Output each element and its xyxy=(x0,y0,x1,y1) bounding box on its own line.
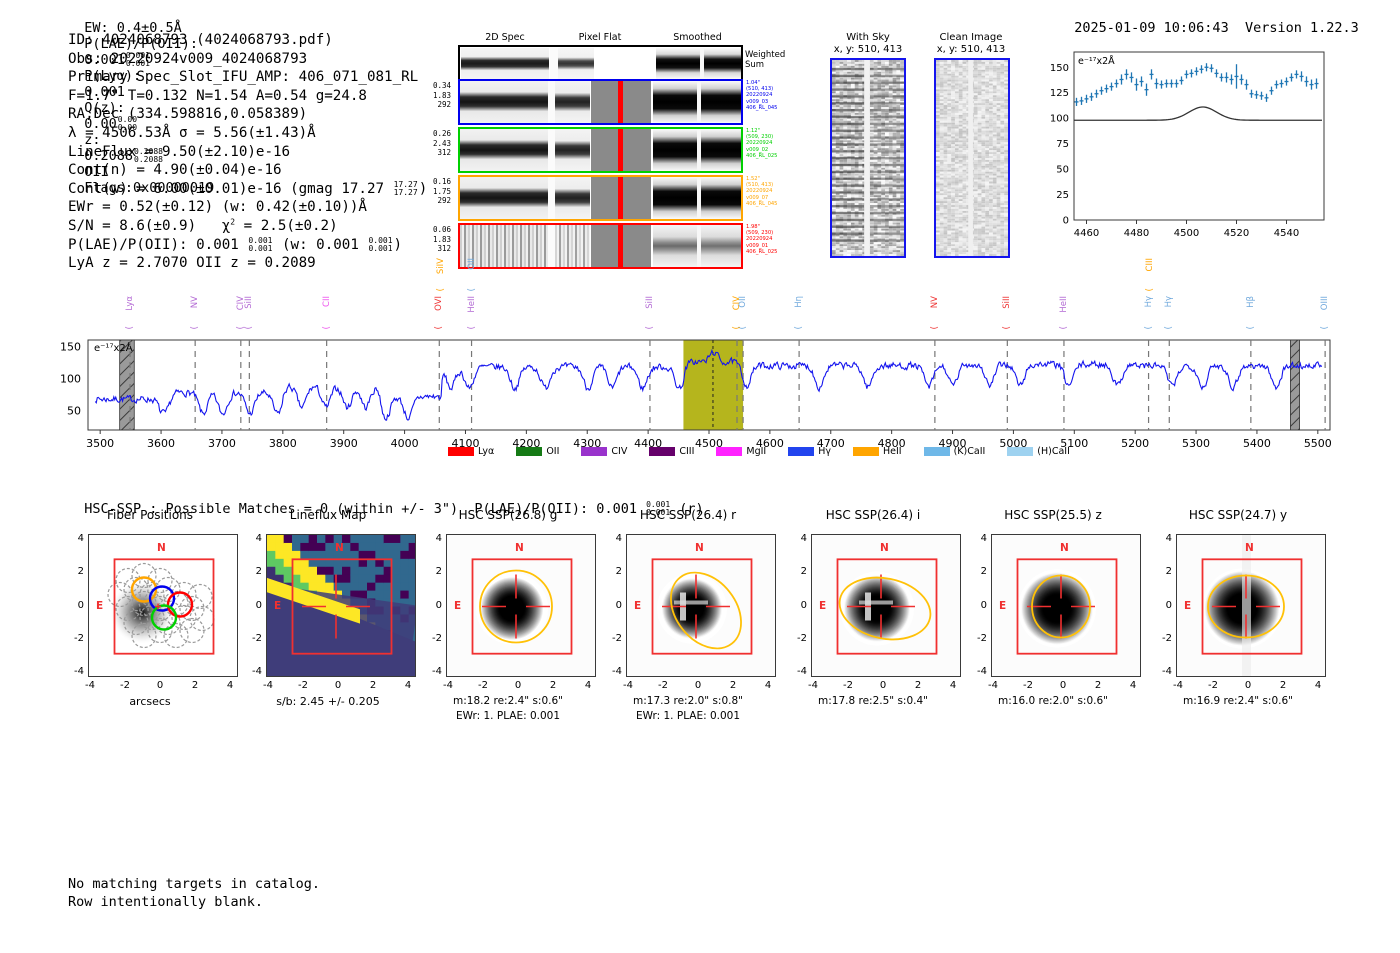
legend-item: Hγ xyxy=(788,446,831,457)
svg-text:150: 150 xyxy=(60,340,81,353)
legend-swatch xyxy=(649,447,675,456)
legend-item: CIV xyxy=(581,446,627,457)
cutout-image xyxy=(88,534,238,677)
emission-line-label: Lyα xyxy=(125,296,135,311)
emission-line-label: CII xyxy=(322,296,332,307)
fiber-2dspec-image-b xyxy=(555,177,590,219)
legend-item: (H)CaII xyxy=(1007,446,1070,457)
cutout-ytick: -2 xyxy=(785,633,807,644)
north-label: N xyxy=(1060,542,1069,554)
cutout-ytick: 2 xyxy=(420,566,442,577)
east-label: E xyxy=(454,600,461,612)
pixel-flat-image xyxy=(591,177,651,219)
image-gap xyxy=(548,177,555,219)
emission-line-bracket: ( xyxy=(434,326,444,330)
svg-text:4520: 4520 xyxy=(1224,228,1249,239)
cutout-ytick: 4 xyxy=(62,533,84,544)
fiber-metric-value: 0.16 xyxy=(417,177,451,187)
svg-text:4460: 4460 xyxy=(1074,228,1099,239)
emission-line-bracket-upper: ( xyxy=(436,288,446,292)
legend-swatch xyxy=(581,447,607,456)
cutout-ytick: 4 xyxy=(1150,533,1172,544)
cutout-ytick: 4 xyxy=(785,533,807,544)
cutout-title: HSC SSP(25.5) z xyxy=(965,508,1141,522)
legend-label: CIII xyxy=(679,446,694,457)
with-sky-image xyxy=(830,58,906,258)
cutout-title: Fiber Positions xyxy=(62,508,238,522)
legend-label: Hγ xyxy=(818,446,831,457)
cutout-panel-hsc-ssp-i: HSC SSP(26.4) iNE420-2-4-4-2024m:17.8 re… xyxy=(785,508,961,743)
cutout-xtick: -4 xyxy=(257,680,279,691)
cutout-caption: m:16.0 re:2.0" s:0.6" xyxy=(965,695,1141,707)
cutout-xtick: 4 xyxy=(577,680,599,691)
cutout-ytick: -4 xyxy=(420,666,442,677)
legend-swatch xyxy=(1007,447,1033,456)
fiber-metric-value: 292 xyxy=(417,100,451,110)
sky-panels: With Sky x, y: 510, 413 Clean Image x, y… xyxy=(826,32,1016,262)
emission-line-label: Hγ xyxy=(1144,296,1154,307)
cutout-ytick: 2 xyxy=(785,566,807,577)
fiber-2dspec-image-b xyxy=(555,81,590,123)
cutout-xtick: 2 xyxy=(542,680,564,691)
header-timestamp-version: 2025-01-09 10:06:43 Version 1.22.3 xyxy=(1058,4,1359,36)
fiber-row xyxy=(458,127,743,173)
info-plae: P(LAE)/P(OII): 0.001 0.0010.001 (w: 0.00… xyxy=(68,236,427,255)
cutout-ytick: 4 xyxy=(965,533,987,544)
fiber-row-side-label: 1.04"(510, 413)20220924v009_03406_RL_045 xyxy=(746,80,796,111)
fiber-row-metrics: 0.262.43312 xyxy=(417,129,451,158)
emission-line-bracket: ( xyxy=(794,326,804,330)
fiber-smoothed-image-b xyxy=(701,177,741,219)
cutout-ytick: 0 xyxy=(62,600,84,611)
cutout-ytick: 0 xyxy=(965,600,987,611)
east-label: E xyxy=(999,600,1006,612)
north-label: N xyxy=(515,542,524,554)
legend-swatch xyxy=(516,447,542,456)
cutout-image xyxy=(266,534,416,677)
cutout-xtick: -2 xyxy=(1017,680,1039,691)
cutout-ytick: 2 xyxy=(965,566,987,577)
cutout-xtick: -2 xyxy=(652,680,674,691)
cutout-xlabel: arcsecs xyxy=(62,695,238,708)
cutout-xtick: 2 xyxy=(184,680,206,691)
fiber-side-text: 406_RL_025 xyxy=(746,153,796,159)
clean-image-title: Clean Image x, y: 510, 413 xyxy=(926,32,1016,56)
fiber-smoothed-image xyxy=(653,225,697,267)
ifu-box xyxy=(115,559,214,653)
cutout-ytick: 0 xyxy=(1150,600,1172,611)
svg-text:4000: 4000 xyxy=(391,437,419,450)
emission-line-bracket: ( xyxy=(1164,326,1174,330)
east-label: E xyxy=(96,600,103,612)
fiber-2dspec-image xyxy=(460,81,548,123)
east-label: E xyxy=(819,600,826,612)
legend-swatch xyxy=(924,447,950,456)
cutout-ytick: -2 xyxy=(600,633,622,644)
footer-text: No matching targets in catalog. Row inte… xyxy=(68,875,320,911)
cutout-image xyxy=(991,534,1141,677)
with-sky-title: With Sky x, y: 510, 413 xyxy=(826,32,910,56)
cutout-ytick: 2 xyxy=(62,566,84,577)
cutout-row: Fiber PositionsNE420-2-4-4-2024arcsecsLi… xyxy=(0,508,1400,743)
legend-item: Lyα xyxy=(448,446,494,457)
svg-text:3900: 3900 xyxy=(330,437,358,450)
masked-band xyxy=(1290,340,1299,430)
spec2d-panel-group: 2D Spec Pixel Flat Smoothed Weighted Sum… xyxy=(455,32,795,262)
cutout-xtick: -4 xyxy=(437,680,459,691)
fiber-metric-value: 292 xyxy=(417,196,451,206)
cutout-ytick: 2 xyxy=(1150,566,1172,577)
cutout-caption: m:16.9 re:2.4" s:0.6" xyxy=(1150,695,1326,707)
cutout-ytick: -4 xyxy=(1150,666,1172,677)
fiber-row xyxy=(458,223,743,269)
svg-text:5200: 5200 xyxy=(1121,437,1149,450)
cutout-panel-lineflux-map: Lineflux MapNE420-2-4-4-2024s/b: 2.45 +/… xyxy=(240,508,416,743)
zoom-unit-label: e⁻¹⁷x2Å xyxy=(1078,55,1115,67)
spectrum-legend: LyαOIICIVCIIIMgIIHγHeII(K)CaII(H)CaII xyxy=(448,446,968,457)
cutout-xtick: 0 xyxy=(1052,680,1074,691)
emission-line-bracket: ( xyxy=(125,326,135,330)
fiber-row xyxy=(458,79,743,125)
image-gap xyxy=(548,225,555,267)
legend-label: MgII xyxy=(746,446,766,457)
legend-item: (K)CaII xyxy=(924,446,986,457)
cutout-xtick: -4 xyxy=(617,680,639,691)
info-wavelength: λ = 4506.53Å σ = 5.56(±1.43)Å xyxy=(68,124,427,143)
cutout-title: Lineflux Map xyxy=(240,508,416,522)
fiber-metric-value: 1.83 xyxy=(417,235,451,245)
svg-text:5500: 5500 xyxy=(1304,437,1332,450)
detection-info-block: ID: 4024068793 (4024068793.pdf) Obs: 202… xyxy=(68,31,427,273)
full-spectrum-plot: 5010015035003600370038003900400041004200… xyxy=(0,268,1400,468)
fiber-smoothed-image-b xyxy=(701,81,741,123)
cutout-xtick: 4 xyxy=(397,680,419,691)
fiber-side-text: 406_RL_045 xyxy=(746,201,796,207)
emission-line-bracket: ( xyxy=(645,326,655,330)
cutout-ytick: -2 xyxy=(1150,633,1172,644)
spectrum-unit-label: e⁻¹⁷x2Å xyxy=(94,341,133,354)
svg-text:4540: 4540 xyxy=(1274,228,1299,239)
fiber-metric-value: 0.26 xyxy=(417,129,451,139)
emission-line-label: NV xyxy=(930,296,940,308)
cutout-caption: m:18.2 re:2.4" s:0.6" xyxy=(420,695,596,707)
east-label: E xyxy=(634,600,641,612)
east-label: E xyxy=(1184,600,1191,612)
emission-line-bracket: ( xyxy=(930,326,940,330)
cutout-caption-secondary: EWr: 1. PLAE: 0.001 xyxy=(600,710,776,722)
emission-line-bracket: ( xyxy=(732,326,742,330)
svg-text:100: 100 xyxy=(1050,114,1069,125)
legend-label: (K)CaII xyxy=(954,446,986,457)
fiber-2dspec-image-b xyxy=(555,225,590,267)
emission-line-label-upper: OII xyxy=(467,258,477,270)
cutout-xtick: 0 xyxy=(872,680,894,691)
cutout-xtick: 2 xyxy=(1272,680,1294,691)
legend-label: Lyα xyxy=(478,446,494,457)
emission-line-bracket: ( xyxy=(322,326,332,330)
cutout-ytick: -4 xyxy=(965,666,987,677)
timestamp: 2025-01-09 10:06:43 xyxy=(1074,20,1228,36)
svg-text:4500: 4500 xyxy=(1174,228,1199,239)
cutout-image xyxy=(626,534,776,677)
cutout-ytick: 2 xyxy=(240,566,262,577)
fiber-2dspec-image xyxy=(460,129,548,171)
svg-text:75: 75 xyxy=(1056,139,1069,150)
cutout-ytick: -4 xyxy=(62,666,84,677)
emission-line-bracket: ( xyxy=(1320,326,1330,330)
cutout-ytick: 0 xyxy=(600,600,622,611)
legend-item: MgII xyxy=(716,446,766,457)
legend-item: HeII xyxy=(853,446,902,457)
info-ewr: EWr = 0.52(±0.12) (w: 0.42(±0.10))Å xyxy=(68,198,427,217)
fiber-metric-value: 1.83 xyxy=(417,91,451,101)
image-gap xyxy=(548,81,555,123)
cutout-ytick: 0 xyxy=(785,600,807,611)
cutout-ytick: 4 xyxy=(420,533,442,544)
footer-line2: Row intentionally blank. xyxy=(68,893,320,911)
svg-text:0: 0 xyxy=(1063,216,1069,227)
full-spectrum-svg: 5010015035003600370038003900400041004200… xyxy=(0,268,1400,468)
zoom-spectrum-svg: 025507510012515044604480450045204540e⁻¹⁷… xyxy=(1032,42,1332,257)
cutout-panel-hsc-ssp-z: HSC SSP(25.5) zNE420-2-4-4-2024m:16.0 re… xyxy=(965,508,1141,743)
pixel-flat-image xyxy=(591,129,651,171)
cutout-xlabel: s/b: 2.45 +/- 0.205 xyxy=(240,695,416,708)
cutout-xtick: -2 xyxy=(114,680,136,691)
cutout-caption: m:17.3 re:2.0" s:0.8" xyxy=(600,695,776,707)
cutout-xtick: -2 xyxy=(472,680,494,691)
legend-item: CIII xyxy=(649,446,694,457)
north-label: N xyxy=(695,542,704,554)
legend-label: CIV xyxy=(611,446,627,457)
image-gap xyxy=(548,129,555,171)
fiber-side-text: 406_RL_025 xyxy=(746,249,796,255)
info-lineflux: LineFlux = 9.50(±2.10)e-16 xyxy=(68,143,427,162)
emission-line-bracket: ( xyxy=(1002,326,1012,330)
fiber-row-metrics: 0.341.83292 xyxy=(417,81,451,110)
cutout-title: HSC SSP(26.8) g xyxy=(420,508,596,522)
svg-text:3800: 3800 xyxy=(269,437,297,450)
cutout-ytick: 0 xyxy=(240,600,262,611)
cutout-xtick: -4 xyxy=(79,680,101,691)
cutout-xtick: 0 xyxy=(1237,680,1259,691)
cutout-xtick: 2 xyxy=(722,680,744,691)
svg-text:5400: 5400 xyxy=(1243,437,1271,450)
north-label: N xyxy=(335,542,344,554)
legend-label: (H)CaII xyxy=(1037,446,1070,457)
cutout-xtick: -2 xyxy=(1202,680,1224,691)
zoom-spectrum-plot: 025507510012515044604480450045204540e⁻¹⁷… xyxy=(1032,42,1332,257)
fiber-2dspec-image xyxy=(460,177,548,219)
cutout-xtick: -4 xyxy=(982,680,1004,691)
emission-line-label: CIV xyxy=(236,296,246,310)
pixel-flat-image xyxy=(591,225,651,267)
fiber-row-side-label: 1.52"(510, 413)20220924v009_07406_RL_045 xyxy=(746,176,796,207)
fiber-smoothed-image-b xyxy=(701,225,741,267)
info-cont-w: Cont(w) = 6.00(±0.01)e-16 (gmag 17.27 17… xyxy=(68,180,427,199)
cutout-caption-secondary: EWr: 1. PLAE: 0.001 xyxy=(420,710,596,722)
info-obs: Obs: 20220924v009_4024068793 xyxy=(68,50,427,69)
pixel-flat-marker xyxy=(618,177,623,219)
info-seeing: F=1.7" T=0.132 N=1.54 A=0.54 g=24.8 xyxy=(68,87,427,106)
svg-text:50: 50 xyxy=(67,405,81,418)
emission-line-bracket: ( xyxy=(190,326,200,330)
legend-swatch xyxy=(448,447,474,456)
fiber-row xyxy=(458,175,743,221)
emission-line-bracket: ( xyxy=(236,326,246,330)
fiber-metric-value: 2.43 xyxy=(417,139,451,149)
cutout-caption: m:17.8 re:2.5" s:0.4" xyxy=(785,695,961,707)
fiber-metric-value: 0.06 xyxy=(417,225,451,235)
emission-line-label: Hη xyxy=(794,296,804,308)
emission-line-bracket-upper: ( xyxy=(467,288,477,292)
pixel-flat-image xyxy=(591,81,651,123)
emission-line-label: HeII xyxy=(467,296,477,313)
legend-item: OII xyxy=(516,446,559,457)
emission-line-label: HeII xyxy=(1059,296,1069,313)
cutout-panel-hsc-ssp-y: HSC SSP(24.7) yNE420-2-4-4-2024m:16.9 re… xyxy=(1150,508,1326,743)
svg-text:4480: 4480 xyxy=(1124,228,1149,239)
emission-line-label: SiII xyxy=(645,296,655,309)
emission-line-bracket: ( xyxy=(1144,326,1154,330)
cutout-xtick: 2 xyxy=(907,680,929,691)
cutout-xtick: 0 xyxy=(687,680,709,691)
svg-text:3500: 3500 xyxy=(86,437,114,450)
info-radec: RA,Dec (334.598816,0.058389) xyxy=(68,105,427,124)
emission-line-bracket: ( xyxy=(1059,326,1069,330)
svg-text:3700: 3700 xyxy=(208,437,236,450)
cutout-xtick: 4 xyxy=(942,680,964,691)
clean-image xyxy=(934,58,1010,258)
cutout-image xyxy=(811,534,961,677)
info-sn-chi2: S/N = 8.6(±0.9) χ2 = 2.5(±0.2) xyxy=(68,217,427,236)
east-label: E xyxy=(274,600,281,612)
cutout-xtick: 0 xyxy=(149,680,171,691)
fiber-rows-container: 0.341.832921.04"(510, 413)20220924v009_0… xyxy=(455,32,795,262)
cutout-ytick: -4 xyxy=(600,666,622,677)
svg-text:25: 25 xyxy=(1056,190,1069,201)
cutout-panel-hsc-ssp-r: HSC SSP(26.4) rNE420-2-4-4-2024m:17.3 re… xyxy=(600,508,776,743)
fiber-smoothed-image-b xyxy=(701,129,741,171)
north-label: N xyxy=(1245,542,1254,554)
source-ellipse xyxy=(834,570,936,648)
cutout-xtick: 4 xyxy=(219,680,241,691)
emission-line-label: OVI xyxy=(434,296,444,311)
emission-line-label: CIV xyxy=(732,296,742,310)
emission-line-bracket: ( xyxy=(467,326,477,330)
cutout-title: HSC SSP(26.4) i xyxy=(785,508,961,522)
cutout-image xyxy=(1176,534,1326,677)
fiber-row-side-label: 1.12"(509, 230)20220924v009_02406_RL_025 xyxy=(746,128,796,159)
cutout-panel-hsc-ssp-g: HSC SSP(26.8) gNE420-2-4-4-2024m:18.2 re… xyxy=(420,508,596,743)
svg-text:50: 50 xyxy=(1056,165,1069,176)
info-cont-n: Cont(n) = 4.90(±0.04)e-16 xyxy=(68,161,427,180)
svg-text:100: 100 xyxy=(60,373,81,386)
cutout-title: HSC SSP(24.7) y xyxy=(1150,508,1326,522)
cutout-xtick: -2 xyxy=(292,680,314,691)
fiber-side-text: 406_RL_045 xyxy=(746,105,796,111)
info-primary-spec: Primary Spec_Slot_IFU_AMP: 406_071_081_R… xyxy=(68,68,427,87)
info-id: ID: 4024068793 (4024068793.pdf) xyxy=(68,31,427,50)
fiber-row-side-label: 1.98"(509, 230)20220924v009_01406_RL_025 xyxy=(746,224,796,255)
pixel-flat-marker xyxy=(618,225,623,267)
cutout-xtick: 0 xyxy=(507,680,529,691)
fiber-metric-value: 1.75 xyxy=(417,187,451,197)
cutout-panel-fiber-positions: Fiber PositionsNE420-2-4-4-2024arcsecs xyxy=(62,508,238,743)
emission-line-label: SiII xyxy=(1002,296,1012,309)
svg-text:3600: 3600 xyxy=(147,437,175,450)
cutout-ytick: 0 xyxy=(420,600,442,611)
cutout-xtick: 2 xyxy=(362,680,384,691)
emission-line-label-upper: CIII xyxy=(1145,258,1155,271)
fiber-smoothed-image xyxy=(653,177,697,219)
version: Version 1.22.3 xyxy=(1245,20,1359,36)
pixel-flat-marker xyxy=(618,129,623,171)
source-ellipse xyxy=(657,559,756,662)
cutout-xtick: -4 xyxy=(802,680,824,691)
emission-line-bracket: ( xyxy=(1246,326,1256,330)
cutout-ytick: -2 xyxy=(420,633,442,644)
fiber-row-metrics: 0.061.83312 xyxy=(417,225,451,254)
svg-text:150: 150 xyxy=(1050,63,1069,74)
emission-line-label-upper: SiIV xyxy=(436,258,446,274)
fiber-metric-value: 312 xyxy=(417,148,451,158)
emission-line-label: Hγ xyxy=(1164,296,1174,307)
cutout-ytick: -2 xyxy=(965,633,987,644)
fiber-metric-value: 312 xyxy=(417,244,451,254)
cutout-xtick: 4 xyxy=(1307,680,1329,691)
cutout-ytick: -4 xyxy=(240,666,262,677)
cutout-ytick: -4 xyxy=(785,666,807,677)
cutout-xtick: -4 xyxy=(1167,680,1189,691)
svg-text:5300: 5300 xyxy=(1182,437,1210,450)
cutout-image xyxy=(446,534,596,677)
fiber-metric-value: 0.34 xyxy=(417,81,451,91)
emission-line-label: Hβ xyxy=(1246,296,1256,308)
cutout-xtick: 4 xyxy=(757,680,779,691)
cutout-ytick: 2 xyxy=(600,566,622,577)
north-label: N xyxy=(157,542,166,554)
legend-swatch xyxy=(788,447,814,456)
cutout-xtick: 4 xyxy=(1122,680,1144,691)
fiber-2dspec-image-b xyxy=(555,129,590,171)
cutout-xtick: 2 xyxy=(1087,680,1109,691)
pixel-flat-marker xyxy=(618,81,623,123)
cutout-ytick: -2 xyxy=(240,633,262,644)
legend-swatch xyxy=(716,447,742,456)
legend-label: HeII xyxy=(883,446,902,457)
emission-line-label: NV xyxy=(190,296,200,308)
cutout-xtick: -2 xyxy=(837,680,859,691)
fiber-smoothed-image xyxy=(653,81,697,123)
cutout-xtick: 0 xyxy=(327,680,349,691)
emission-line-label: OIII xyxy=(1320,296,1330,310)
fiber-row-metrics: 0.161.75292 xyxy=(417,177,451,206)
legend-label: OII xyxy=(546,446,559,457)
footer-line1: No matching targets in catalog. xyxy=(68,875,320,893)
svg-text:125: 125 xyxy=(1050,88,1069,99)
cutout-ytick: 4 xyxy=(240,533,262,544)
cutout-title: HSC SSP(26.4) r xyxy=(600,508,776,522)
cutout-ytick: 4 xyxy=(600,533,622,544)
north-label: N xyxy=(880,542,889,554)
emission-line-bracket-upper: ( xyxy=(1145,288,1155,292)
fiber-smoothed-image xyxy=(653,129,697,171)
cutout-ytick: -2 xyxy=(62,633,84,644)
legend-swatch xyxy=(853,447,879,456)
